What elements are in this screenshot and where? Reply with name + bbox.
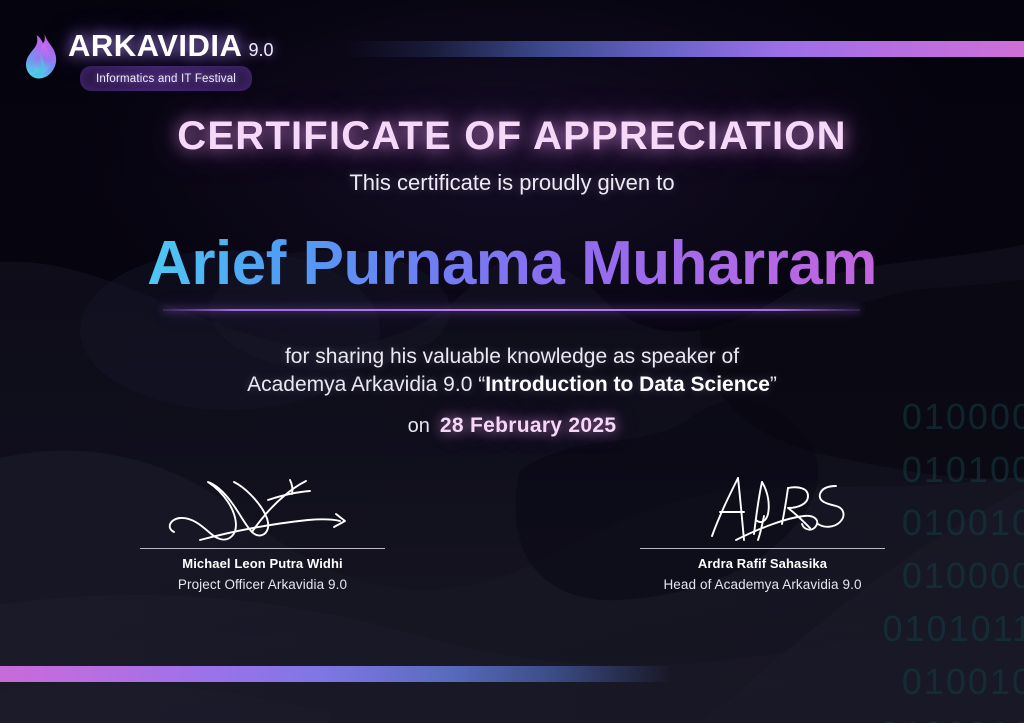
citation-line-1: for sharing his valuable knowledge as sp… (0, 345, 1024, 369)
signature-right-line (640, 548, 885, 549)
citation-suffix: ” (770, 373, 777, 396)
signature-left-line (140, 548, 385, 549)
signature-left-name: Michael Leon Putra Widhi (140, 556, 385, 571)
signature-left-role: Project Officer Arkavidia 9.0 (140, 577, 385, 592)
certificate-subtitle: This certificate is proudly given to (0, 170, 1024, 196)
signature-block-right: Ardra Rafif Sahasika Head of Academya Ar… (640, 470, 885, 592)
flame-icon (24, 30, 60, 84)
signature-right-name: Ardra Rafif Sahasika (640, 556, 885, 571)
bottom-gradient-bar (0, 666, 672, 682)
recipient-name: Arief Purnama Muharram (0, 228, 1024, 299)
top-gradient-bar (345, 41, 1024, 57)
brand-name: ARKAVIDIA (68, 28, 242, 64)
signature-right-scribble-wrap (640, 470, 885, 548)
arkavidia-logo: ARKAVIDIA 9.0 Informatics and IT Festiva… (24, 28, 273, 91)
citation-topic: Introduction to Data Science (485, 373, 770, 396)
date-value: 28 February 2025 (440, 414, 616, 437)
certificate-canvas: 010000 010100 010010 010000 0101011 0100… (0, 0, 1024, 723)
recipient-underline (163, 309, 860, 311)
signature-block-left: Michael Leon Putra Widhi Project Officer… (140, 470, 385, 592)
handwritten-signature-icon (140, 470, 385, 548)
brand-tagline-badge: Informatics and IT Festival (80, 66, 252, 91)
citation-prefix: Academya Arkavidia 9.0 “ (247, 373, 485, 396)
logo-text-block: ARKAVIDIA 9.0 Informatics and IT Festiva… (68, 28, 273, 91)
brand-wordmark: ARKAVIDIA 9.0 (68, 28, 273, 64)
signature-right-role: Head of Academya Arkavidia 9.0 (640, 577, 885, 592)
certificate-title: CERTIFICATE OF APPRECIATION (0, 114, 1024, 159)
handwritten-signature-icon (640, 470, 885, 548)
signature-left-scribble-wrap (140, 470, 385, 548)
date-label: on (408, 415, 430, 437)
citation-line-2: Academya Arkavidia 9.0 “Introduction to … (0, 373, 1024, 397)
brand-tagline: Informatics and IT Festival (96, 73, 236, 85)
brand-version: 9.0 (248, 40, 273, 61)
date-row: on28 February 2025 (0, 414, 1024, 438)
